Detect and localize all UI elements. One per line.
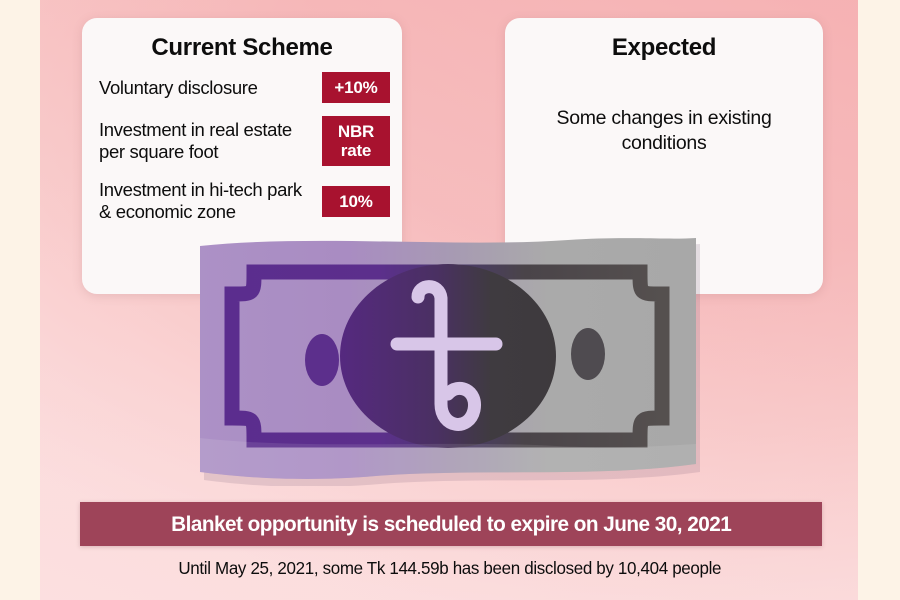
- banknote-right-dot: [571, 328, 605, 380]
- infographic-canvas: Current Scheme Voluntary disclosure +10%…: [0, 0, 900, 600]
- scheme-row-label: Investment in real estate per square foo…: [99, 119, 314, 163]
- right-page-margin: [858, 0, 900, 600]
- disclosure-caption-text: Until May 25, 2021, some Tk 144.59b has …: [179, 558, 722, 579]
- banknote-left-dot: [305, 334, 339, 386]
- expected-title: Expected: [505, 34, 823, 62]
- scheme-row-label: Investment in hi-tech park & economic zo…: [99, 179, 314, 223]
- expected-body-text: Some changes in existing conditions: [505, 106, 823, 156]
- expiry-banner: Blanket opportunity is scheduled to expi…: [80, 502, 822, 546]
- current-scheme-row-list: Voluntary disclosure +10% Investment in …: [82, 72, 402, 223]
- left-page-margin: [0, 0, 40, 600]
- banknote-illustration: [196, 232, 700, 486]
- scheme-row-badge: 10%: [322, 186, 390, 217]
- scheme-row: Investment in real estate per square foo…: [99, 116, 390, 166]
- expiry-banner-text: Blanket opportunity is scheduled to expi…: [171, 512, 731, 537]
- banknote-svg: [196, 232, 700, 486]
- scheme-row: Voluntary disclosure +10%: [99, 72, 390, 103]
- scheme-row-label: Voluntary disclosure: [99, 77, 314, 99]
- current-scheme-title: Current Scheme: [82, 34, 402, 62]
- scheme-row-badge: NBR rate: [322, 116, 390, 166]
- disclosure-caption: Until May 25, 2021, some Tk 144.59b has …: [0, 558, 900, 579]
- scheme-row-badge: +10%: [322, 72, 390, 103]
- scheme-row: Investment in hi-tech park & economic zo…: [99, 179, 390, 223]
